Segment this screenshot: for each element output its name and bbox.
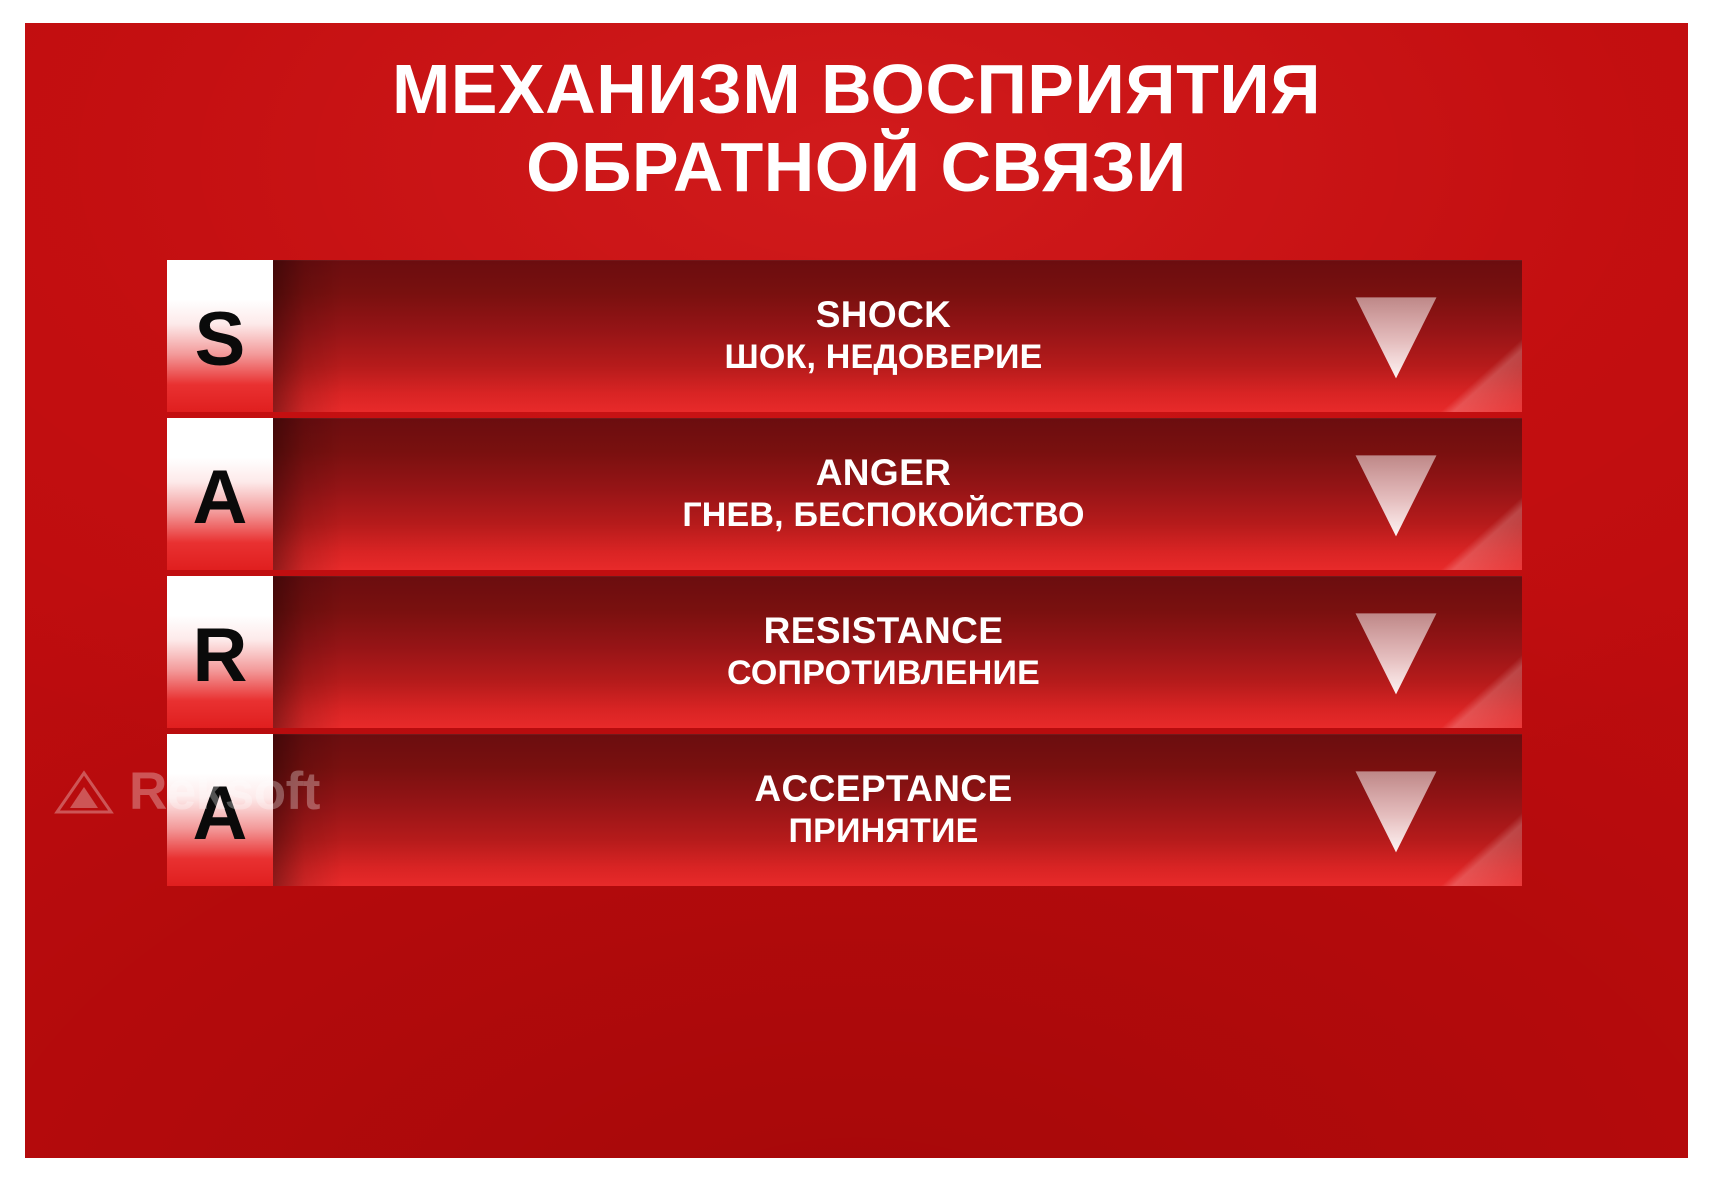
reksoft-wordmark: Reksoft (129, 765, 320, 818)
stage-row-anger[interactable]: A (167, 418, 1522, 570)
stage-title-en-shock: SHOCK (273, 294, 1494, 335)
page-title-line-1: МЕХАНИЗМ ВОСПРИЯТИЯ (25, 51, 1688, 129)
page-title-line-2: ОБРАТНОЙ СВЯЗИ (25, 129, 1688, 207)
stage-row-resistance[interactable]: R (167, 576, 1522, 728)
stage-title-ru-shock: ШОК, НЕДОВЕРИЕ (273, 338, 1494, 378)
stage-title-ru-resistance: СОПРОТИВЛЕНИЕ (273, 654, 1494, 694)
stage-letter-a1: A (193, 460, 248, 536)
stage-labels-resistance: RESISTANCE СОПРОТИВЛЕНИЕ (273, 610, 1522, 694)
stage-labels-acceptance: ACCEPTANCE ПРИНЯТИЕ (273, 768, 1522, 852)
reksoft-logo: Reksoft (53, 765, 320, 818)
stage-bar-resistance: RESISTANCE СОПРОТИВЛЕНИЕ (273, 576, 1522, 728)
stage-bar-acceptance: ACCEPTANCE ПРИНЯТИЕ (273, 734, 1522, 886)
stage-title-ru-anger: ГНЕВ, БЕСПОКОЙСТВО (273, 496, 1494, 536)
stage-letter-tile-r: R (167, 576, 273, 728)
stage-bar-shock: SHOCK ШОК, НЕДОВЕРИЕ (273, 260, 1522, 412)
slide-canvas: МЕХАНИЗМ ВОСПРИЯТИЯ ОБРАТНОЙ СВЯЗИ S (25, 23, 1688, 1158)
stage-title-en-anger: ANGER (273, 452, 1494, 493)
stage-title-en-resistance: RESISTANCE (273, 610, 1494, 651)
stage-row-shock[interactable]: S (167, 260, 1522, 412)
stage-letter-s: S (195, 302, 246, 378)
stage-bar-anger: ANGER ГНЕВ, БЕСПОКОЙСТВО (273, 418, 1522, 570)
stage-labels-shock: SHOCK ШОК, НЕДОВЕРИЕ (273, 294, 1522, 378)
stage-title-en-acceptance: ACCEPTANCE (273, 768, 1494, 809)
page-title: МЕХАНИЗМ ВОСПРИЯТИЯ ОБРАТНОЙ СВЯЗИ (25, 51, 1688, 206)
stage-letter-tile-s: S (167, 260, 273, 412)
reksoft-triangle-icon (53, 769, 115, 815)
sara-stage-list: S (167, 260, 1522, 886)
stage-letter-tile-a1: A (167, 418, 273, 570)
stage-title-ru-acceptance: ПРИНЯТИЕ (273, 812, 1494, 852)
stage-letter-r: R (193, 618, 248, 694)
stage-row-acceptance[interactable]: A (167, 734, 1522, 886)
stage-labels-anger: ANGER ГНЕВ, БЕСПОКОЙСТВО (273, 452, 1522, 536)
